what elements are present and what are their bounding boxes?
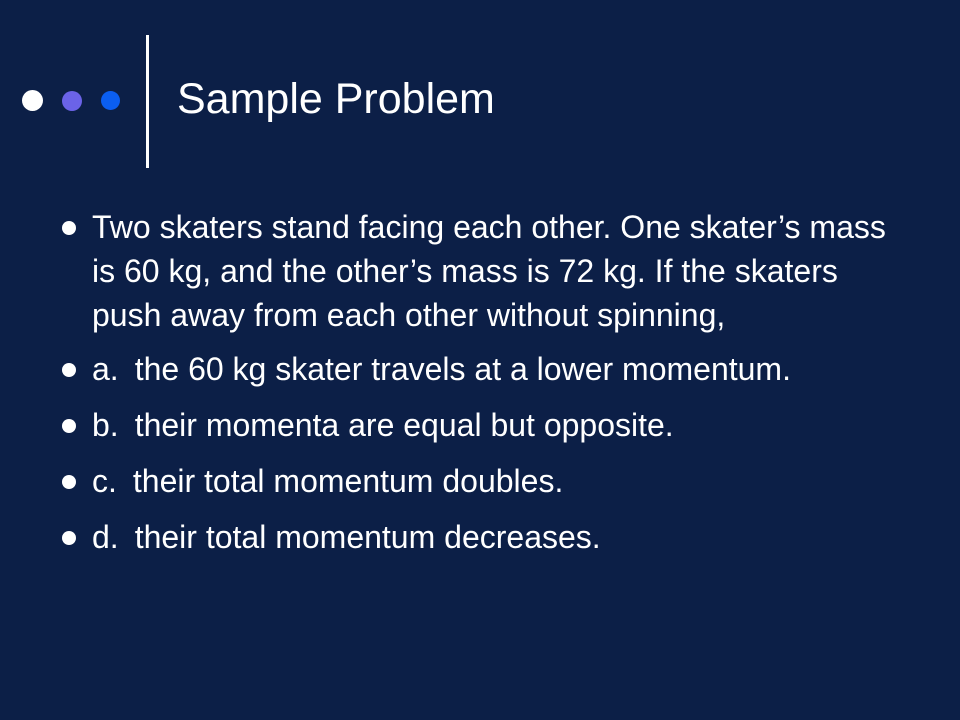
choice-a-text: the 60 kg skater travels at a lower mome… xyxy=(135,351,791,387)
page-title: Sample Problem xyxy=(177,74,495,124)
circle-icon-white xyxy=(22,90,43,111)
circle-icon-blue xyxy=(101,91,120,110)
circle-icon-purple xyxy=(62,91,82,111)
choice-c-label: c. xyxy=(92,463,117,499)
list-item-problem-statement: Two skaters stand facing each other. One… xyxy=(60,205,900,337)
choice-a-label: a. xyxy=(92,351,119,387)
decorative-dots-group xyxy=(22,90,120,111)
slide-canvas: Sample Problem Two skaters stand facing … xyxy=(0,0,960,720)
choice-b-label: b. xyxy=(92,407,119,443)
choice-c-text: their total momentum doubles. xyxy=(133,463,563,499)
list-item-choice-d: d.their total momentum decreases. xyxy=(60,515,900,559)
title-area: Sample Problem xyxy=(0,0,960,185)
choice-d-text: their total momentum decreases. xyxy=(135,519,601,555)
bullet-icon xyxy=(62,475,76,489)
title-divider-rule xyxy=(146,35,149,168)
content-list: Two skaters stand facing each other. One… xyxy=(60,205,900,571)
bullet-icon xyxy=(62,221,76,235)
choice-d-label: d. xyxy=(92,519,119,555)
problem-statement-text: Two skaters stand facing each other. One… xyxy=(92,209,886,333)
choice-b-text: their momenta are equal but opposite. xyxy=(135,407,674,443)
list-item-choice-b: b.their momenta are equal but opposite. xyxy=(60,403,900,447)
list-item-choice-c: c.their total momentum doubles. xyxy=(60,459,900,503)
list-item-choice-a: a.the 60 kg skater travels at a lower mo… xyxy=(60,347,900,391)
bullet-icon xyxy=(62,363,76,377)
bullet-icon xyxy=(62,531,76,545)
bullet-icon xyxy=(62,419,76,433)
